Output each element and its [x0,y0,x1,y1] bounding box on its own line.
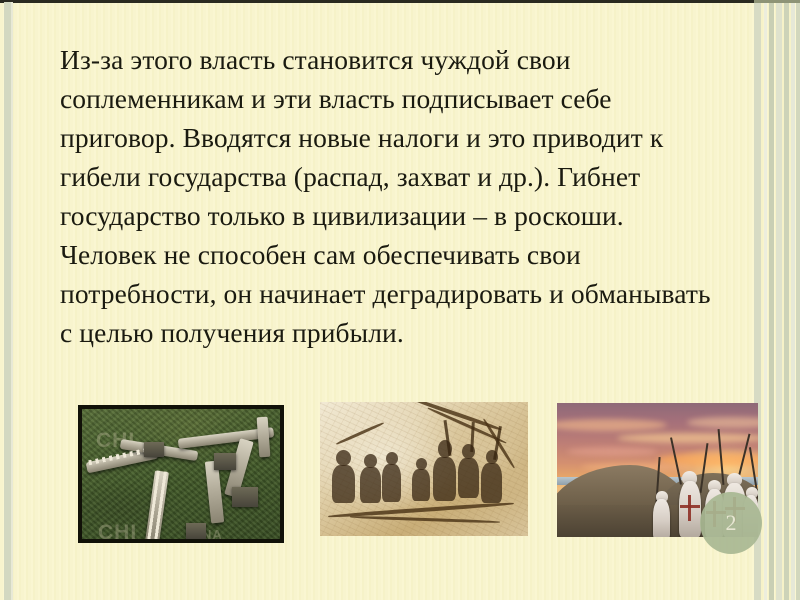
right-border-top-cap [754,0,800,3]
watchtower-1 [144,442,164,457]
great-wall-scene: CHI CHI NA [82,409,280,539]
sketch-figure-5-head [462,444,475,459]
sketch-figure-1-body [332,465,355,503]
watchtower-3 [232,487,258,507]
image-row: CHI CHI NA [0,398,800,558]
sketch-figure-3-body [382,464,401,502]
sketch-figure-4-body [433,457,456,501]
presentation-slide: Из-за этого власть становится чуждой сво… [0,0,800,600]
cloud-1 [557,419,667,431]
sketch-figure-5-body [458,458,479,498]
sketch-figure-4-head [438,440,452,458]
watchtower-2 [214,453,236,470]
sketch-figure-6-body [481,463,502,503]
cloud-4 [567,447,657,456]
photo-watermark-2: CHI [98,521,137,539]
sketch-figure-2-body [360,467,381,503]
top-rule-divider [0,0,800,3]
sketch-figure-7-body [412,469,430,501]
knight-1-cross-horizontal [680,505,700,508]
sepia-ink-sketch [320,402,528,536]
knight-4-body [653,499,670,537]
sketch-figure-6-head [486,450,498,464]
great-wall-aerial-photo: CHI CHI NA [78,405,284,543]
sketch-figure-2-head [364,454,377,468]
watchtower-4 [186,523,206,539]
slide-number: 2 [700,492,762,554]
cloud-2 [617,433,758,443]
slide-body-text: Из-за этого власть становится чуждой сво… [60,40,720,352]
knight-1-cross-vertical [688,495,691,521]
sketch-scene [320,402,528,536]
sketch-figure-1-head [336,450,351,466]
cloud-5 [687,417,758,428]
